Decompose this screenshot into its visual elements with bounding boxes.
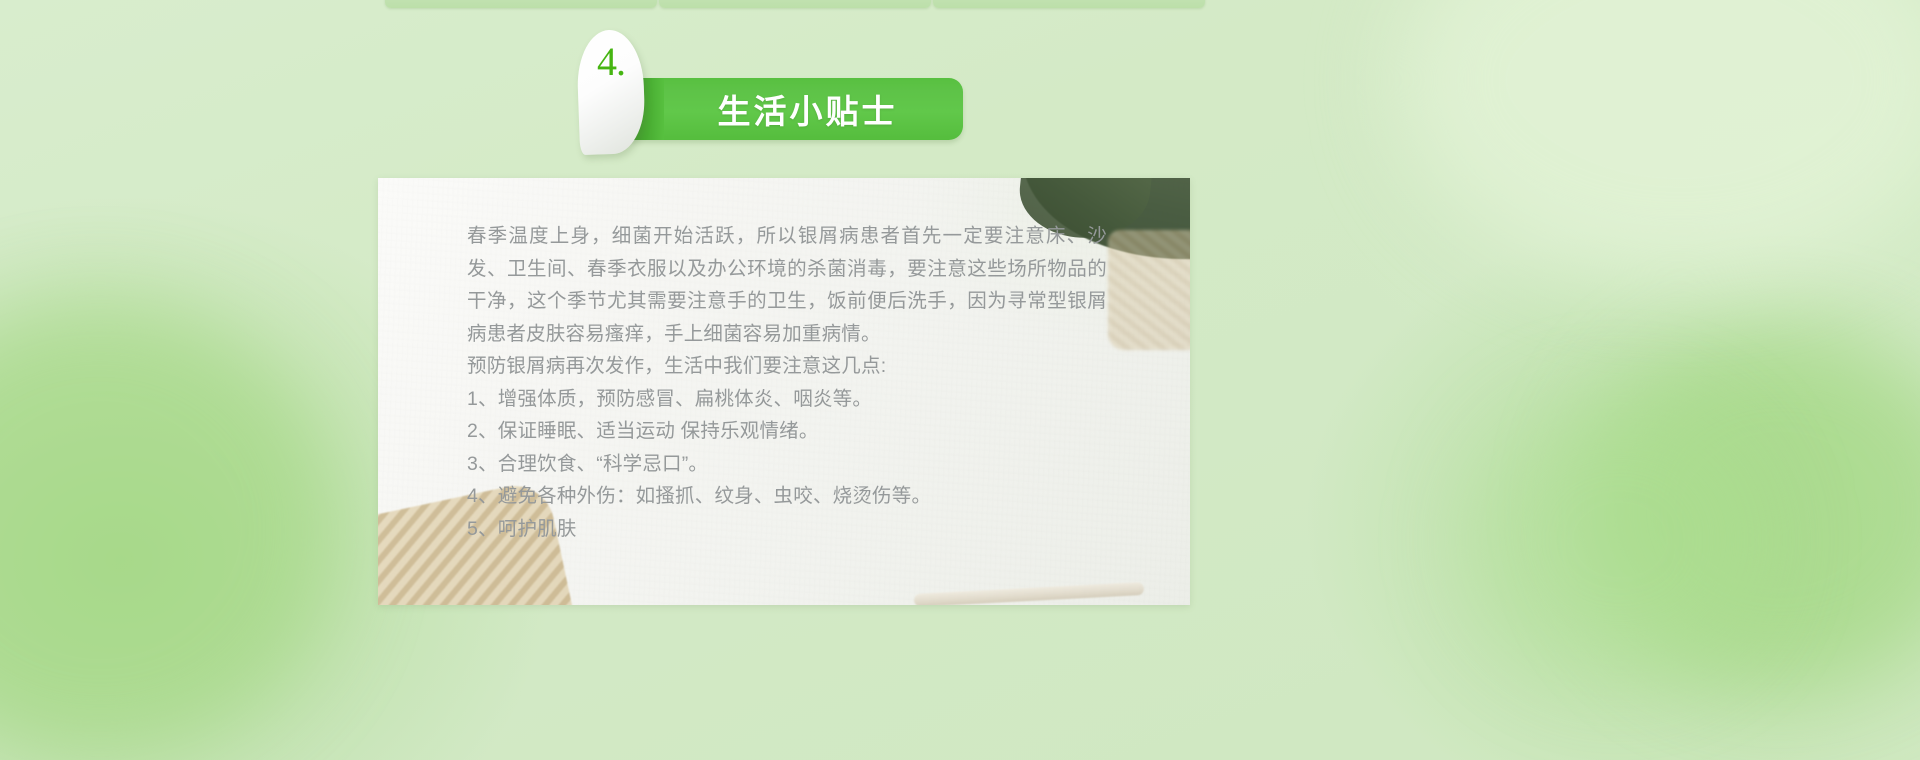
tips-lead-in: 预防银屑病再次发作，生活中我们要注意这几点: bbox=[467, 350, 1107, 383]
previous-section-card bbox=[933, 0, 1205, 8]
previous-sections-strip bbox=[0, 0, 1920, 10]
background-blob-right-lower bbox=[1470, 400, 1770, 680]
list-item: 3、合理饮食、“科学忌口”。 bbox=[467, 448, 1107, 481]
previous-section-card bbox=[385, 0, 657, 8]
section-header: 4. 生活小贴士 bbox=[560, 26, 1020, 156]
section-number-badge: 4. bbox=[578, 30, 644, 154]
woven-basket-decoration-icon bbox=[1108, 230, 1190, 350]
background-blob-left bbox=[0, 300, 340, 760]
tips-list: 1、增强体质，预防感冒、扁桃体炎、咽炎等。 2、保证睡眠、适当运动 保持乐观情绪… bbox=[467, 383, 1107, 546]
list-item: 5、呵护肌肤 bbox=[467, 513, 1107, 546]
page-root: 4. 生活小贴士 春季温度上身，细菌开始活跃，所以银屑病患者首先一定要注意床、沙… bbox=[0, 0, 1920, 760]
background-blob-right-upper bbox=[1580, 330, 1920, 690]
list-item: 1、增强体质，预防感冒、扁桃体炎、咽炎等。 bbox=[467, 383, 1107, 416]
section-title-ribbon: 生活小贴士 bbox=[630, 78, 963, 140]
section-title: 生活小贴士 bbox=[630, 78, 963, 140]
content-card: 春季温度上身，细菌开始活跃，所以银屑病患者首先一定要注意床、沙发、卫生间、春季衣… bbox=[378, 178, 1190, 605]
list-item: 4、避免各种外伤：如搔抓、纹身、虫咬、烧烫伤等。 bbox=[467, 480, 1107, 513]
stick-decoration-icon bbox=[914, 582, 1144, 605]
card-body: 春季温度上身，细菌开始活跃，所以银屑病患者首先一定要注意床、沙发、卫生间、春季衣… bbox=[467, 220, 1107, 545]
section-number: 4. bbox=[578, 42, 644, 82]
intro-paragraph: 春季温度上身，细菌开始活跃，所以银屑病患者首先一定要注意床、沙发、卫生间、春季衣… bbox=[467, 220, 1107, 350]
previous-section-card bbox=[659, 0, 931, 8]
list-item: 2、保证睡眠、适当运动 保持乐观情绪。 bbox=[467, 415, 1107, 448]
background-blob-top-right bbox=[1400, 0, 1920, 280]
